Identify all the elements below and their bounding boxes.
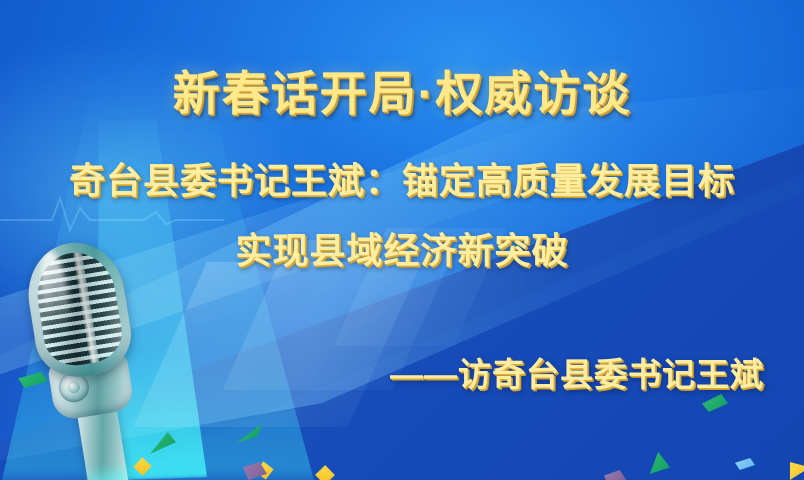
subtitle-line-2: 实现县域经济新突破 [0, 222, 804, 274]
subtitle-line-1: 奇台县委书记王斌：锚定高质量发展目标 [0, 152, 804, 204]
interview-banner: 新春话开局·权威访谈 奇台县委书记王斌：锚定高质量发展目标 实现县域经济新突破 … [0, 0, 804, 480]
main-title: 新春话开局·权威访谈 [0, 55, 804, 124]
text-layer: 新春话开局·权威访谈 奇台县委书记王斌：锚定高质量发展目标 实现县域经济新突破 … [0, 0, 804, 480]
attribution-line: ——访奇台县委书记王斌 [390, 348, 764, 396]
